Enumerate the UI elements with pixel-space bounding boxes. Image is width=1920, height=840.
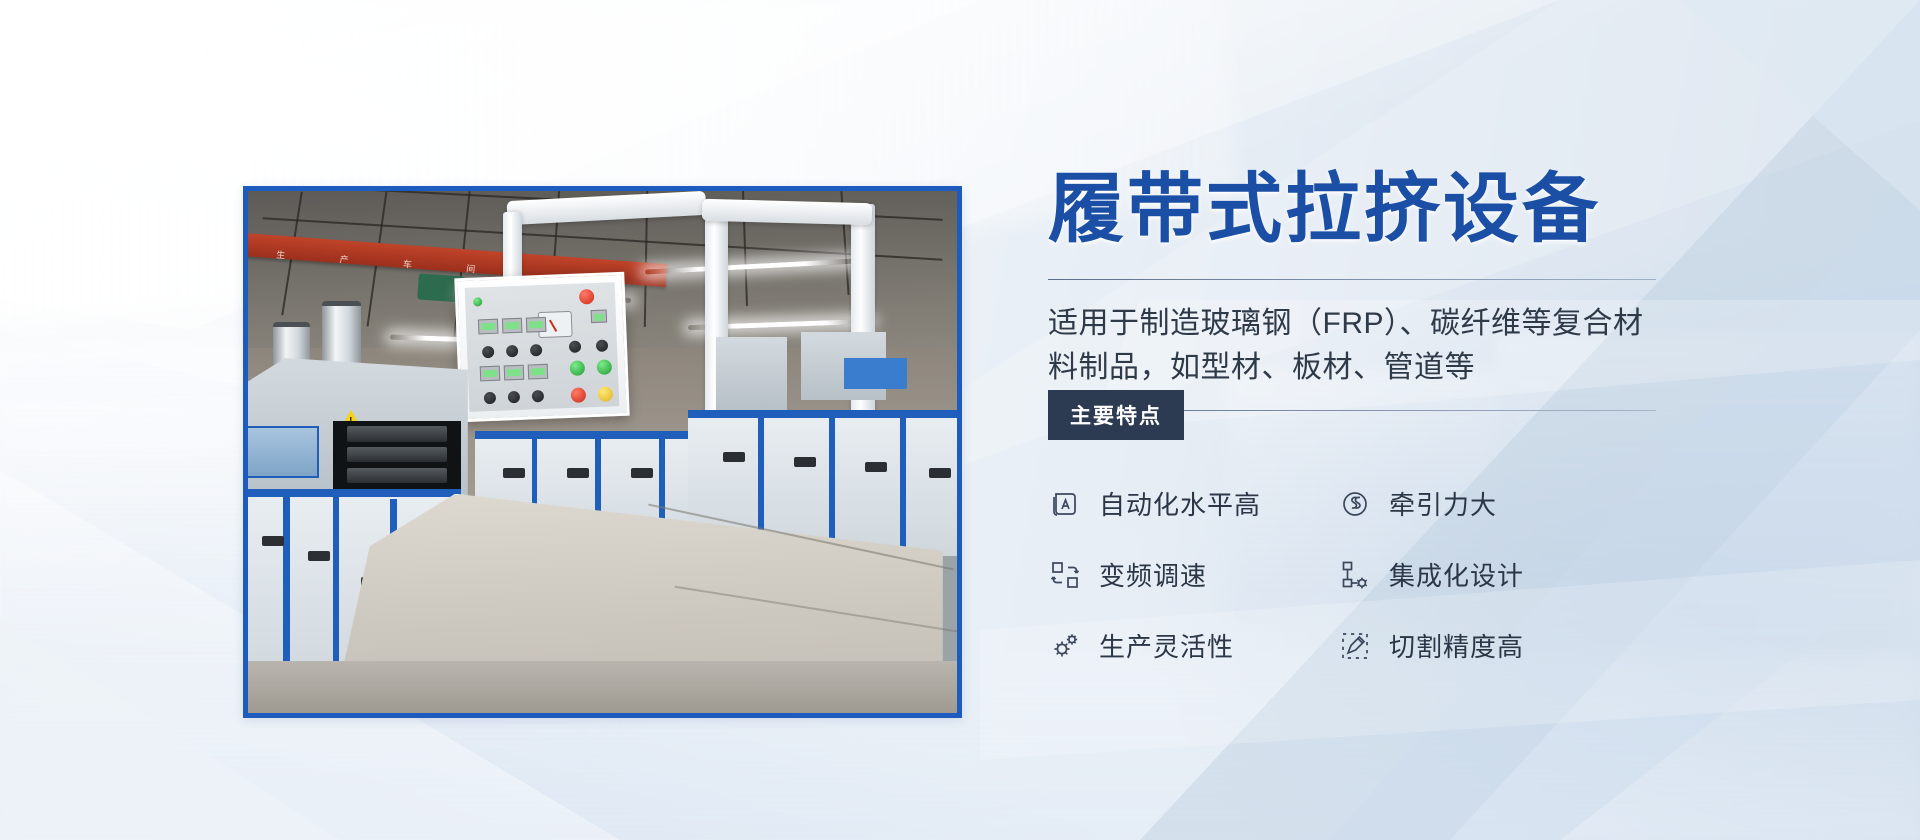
feature-list: 自动化水平高 牵引力大	[1048, 485, 1708, 664]
product-banner: 生 产 车 间	[0, 0, 1920, 840]
photo-inspection-window	[248, 426, 319, 478]
integrated-gear-icon	[1338, 558, 1372, 592]
feature-item-vfd: 变频调速	[1048, 556, 1338, 593]
feature-label: 集成化设计	[1389, 556, 1524, 593]
feature-item-traction: 牵引力大	[1338, 485, 1628, 522]
gears-icon	[1048, 629, 1082, 663]
traction-force-icon	[1338, 487, 1372, 521]
product-photo-frame: 生 产 车 间	[243, 186, 962, 718]
product-photo: 生 产 车 间	[248, 191, 957, 713]
main-features-badge: 主要特点	[1048, 390, 1184, 440]
title-divider	[1048, 279, 1656, 280]
photo-control-panel-face	[465, 282, 620, 411]
feature-item-flexibility: 生产灵活性	[1048, 627, 1338, 664]
subtitle-line-1: 适用于制造玻璃钢（FRP）、碳纤维等复合材	[1048, 302, 1708, 346]
banner-subtitle: 适用于制造玻璃钢（FRP）、碳纤维等复合材 料制品，如型材、板材、管道等	[1048, 302, 1708, 391]
banner-content: 履带式拉挤设备 适用于制造玻璃钢（FRP）、碳纤维等复合材 料制品，如型材、板材…	[1048, 170, 1708, 664]
photo-machine-body	[844, 358, 908, 389]
feature-label: 切割精度高	[1389, 627, 1524, 664]
feature-item-integrated: 集成化设计	[1338, 556, 1628, 593]
feature-label: 牵引力大	[1389, 485, 1497, 522]
feature-label: 变频调速	[1099, 556, 1207, 593]
photo-control-panel	[454, 271, 630, 421]
cut-precision-icon	[1338, 629, 1372, 663]
feature-label: 生产灵活性	[1099, 627, 1234, 664]
feature-label: 自动化水平高	[1099, 485, 1261, 522]
feature-item-cut-precision: 切割精度高	[1338, 627, 1628, 664]
photo-hood	[716, 337, 787, 410]
feature-item-automation: 自动化水平高	[1048, 485, 1338, 522]
subtitle-line-2: 料制品，如型材、板材、管道等	[1048, 346, 1708, 390]
frequency-swap-icon	[1048, 558, 1082, 592]
automation-icon	[1048, 487, 1082, 521]
photo-floor	[248, 661, 957, 713]
page-title: 履带式拉挤设备	[1048, 170, 1708, 251]
